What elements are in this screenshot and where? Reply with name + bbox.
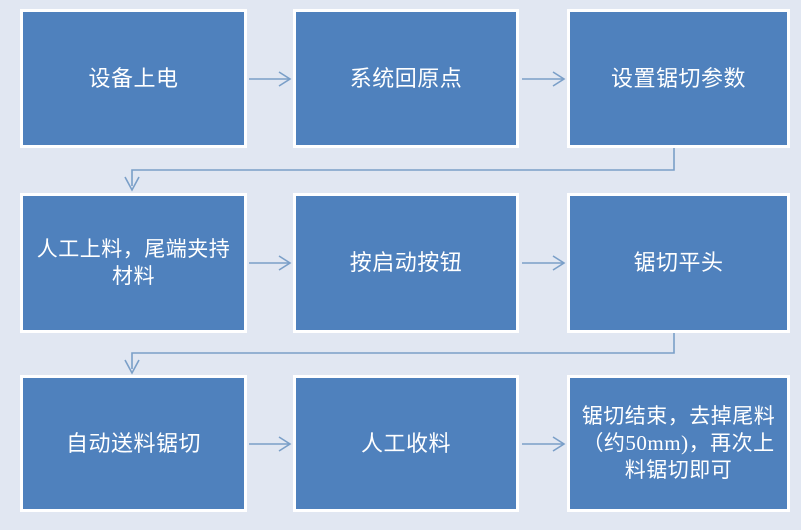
- arrow-saw-flat-head-to-auto-feed-saw: [125, 333, 674, 373]
- flowchart-canvas: 设备上电 系统回原点 设置锯切参数 人工上料，尾端夹持材料 按启动按钮 锯切平头…: [0, 0, 801, 530]
- arrow-equipment-power-to-system-home: [249, 72, 290, 86]
- node-system-return-home[interactable]: 系统回原点: [293, 9, 519, 148]
- node-sawing-finished-note[interactable]: 锯切结束，去掉尾料（约50mm)，再次上料锯切即可: [567, 375, 790, 512]
- arrow-auto-feed-saw-to-manual-unloading: [249, 437, 290, 451]
- arrow-manual-unloading-to-finish-note: [522, 437, 564, 451]
- node-saw-flat-head[interactable]: 锯切平头: [567, 193, 790, 333]
- node-manual-unloading[interactable]: 人工收料: [293, 375, 519, 512]
- node-set-sawing-parameters[interactable]: 设置锯切参数: [567, 9, 790, 148]
- node-manual-loading-clamp-tail[interactable]: 人工上料，尾端夹持材料: [20, 193, 247, 333]
- arrow-manual-loading-to-start-button: [249, 256, 290, 270]
- arrow-system-home-to-set-parameters: [522, 72, 564, 86]
- node-auto-feed-sawing[interactable]: 自动送料锯切: [20, 375, 247, 512]
- arrow-set-parameters-to-manual-loading: [125, 148, 674, 190]
- node-press-start-button[interactable]: 按启动按钮: [293, 193, 519, 333]
- arrow-start-button-to-saw-flat-head: [522, 256, 564, 270]
- node-equipment-power-on[interactable]: 设备上电: [20, 9, 247, 148]
